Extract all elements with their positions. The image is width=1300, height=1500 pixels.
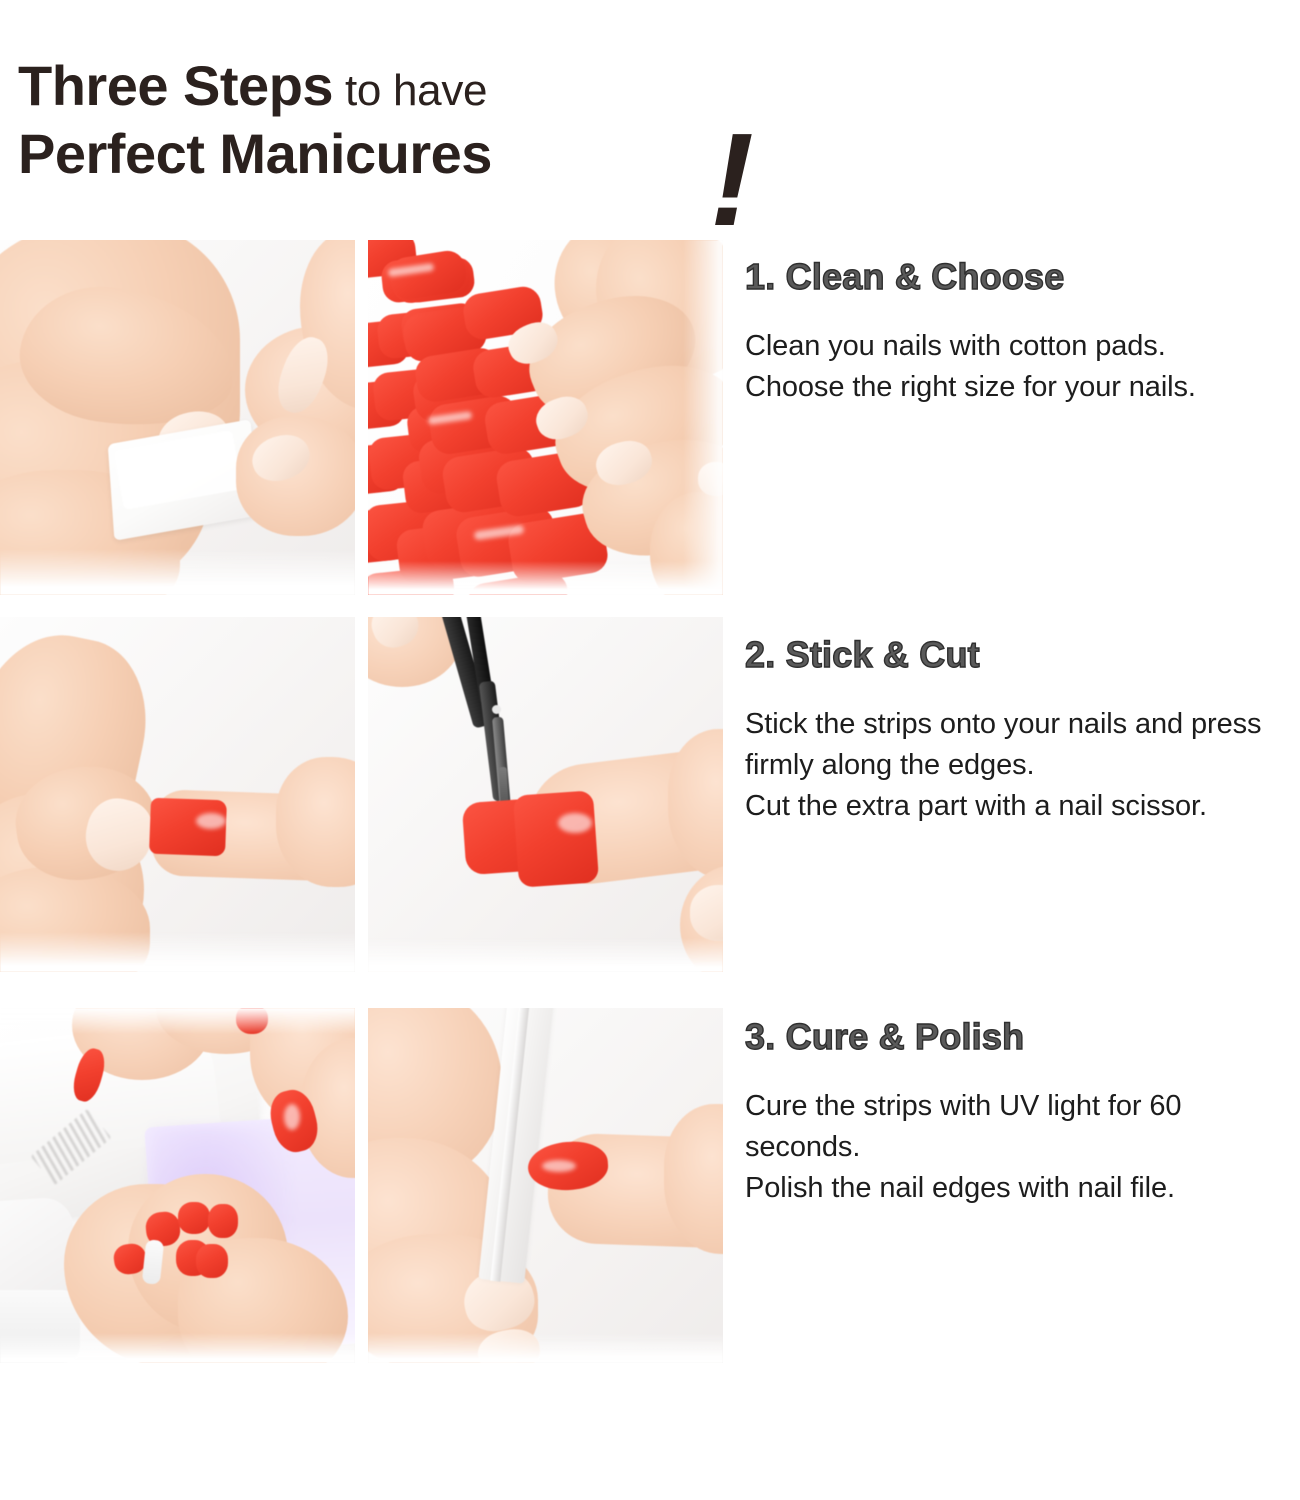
headline-line-1: Three Steps to have bbox=[18, 58, 487, 114]
step-3-body: Cure the strips with UV light for 60 sec… bbox=[745, 1086, 1293, 1210]
step-2-title: 2. Stick & Cut bbox=[745, 636, 1293, 674]
photo-cut-extra-with-scissor bbox=[368, 617, 723, 972]
step-3: 3. Cure & Polish Cure the strips with UV… bbox=[745, 1018, 1293, 1209]
photo-polish-with-nail-file bbox=[368, 1008, 723, 1363]
step-1-body: Clean you nails with cotton pads. Choose… bbox=[745, 326, 1293, 408]
step-3-title: 3. Cure & Polish bbox=[745, 1018, 1293, 1056]
photo-cure-uv-lamp bbox=[0, 1008, 355, 1363]
headline-strong-1: Three Steps bbox=[18, 54, 333, 117]
photo-choose-size-red-strips bbox=[368, 240, 723, 595]
step-1-title: 1. Clean & Choose bbox=[745, 258, 1293, 296]
photo-grid bbox=[0, 240, 730, 1358]
step-1: 1. Clean & Choose Clean you nails with c… bbox=[745, 258, 1293, 408]
photo-clean-nails-cotton-pad bbox=[0, 240, 355, 595]
headline-light-1: to have bbox=[333, 66, 487, 115]
photo-stick-strip-on-nail bbox=[0, 617, 355, 972]
headline-strong-2: Perfect Manicures bbox=[18, 122, 492, 185]
page-title: Three Steps to have Perfect Manicures ! bbox=[18, 58, 798, 208]
step-2-body: Stick the strips onto your nails and pre… bbox=[745, 704, 1293, 828]
step-2: 2. Stick & Cut Stick the strips onto you… bbox=[745, 636, 1293, 827]
exclamation-mark-icon: ! bbox=[710, 114, 754, 246]
headline-line-2: Perfect Manicures bbox=[18, 126, 492, 182]
